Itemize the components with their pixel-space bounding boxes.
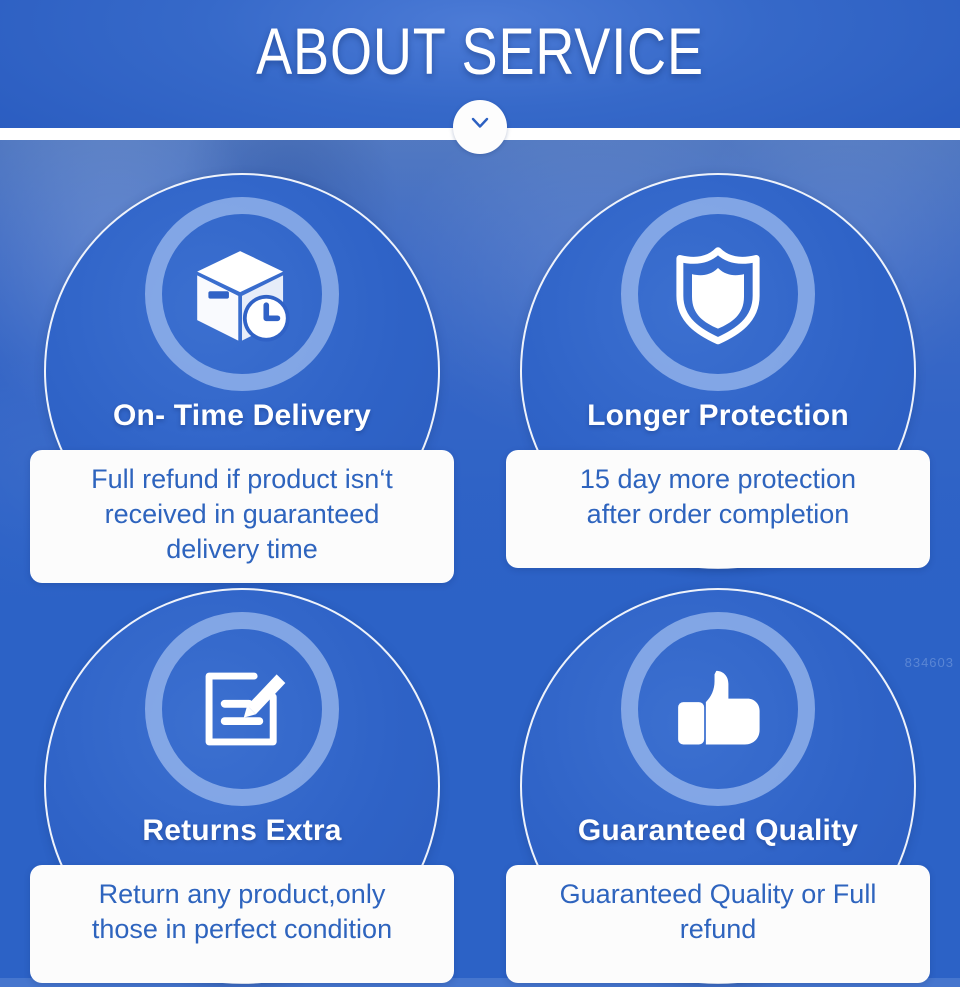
package-clock-icon bbox=[175, 227, 309, 361]
card-title: Returns Extra bbox=[22, 812, 462, 850]
card-note-box: Return any product,only those in perfect… bbox=[30, 865, 454, 983]
service-card-longer-protection[interactable]: Longer Protection 15 day more protection… bbox=[498, 165, 938, 575]
service-cards-grid: On- Time Delivery Full refund if product… bbox=[0, 140, 960, 987]
card-note-text: Return any product,only those in perfect… bbox=[40, 877, 444, 947]
card-note-box: Full refund if product isn‘t received in… bbox=[30, 450, 454, 583]
card-title: Longer Protection bbox=[498, 397, 938, 435]
shield-icon bbox=[651, 227, 785, 361]
card-note-text: 15 day more protection after order compl… bbox=[516, 462, 920, 532]
page-title: ABOUT SERVICE bbox=[86, 14, 873, 88]
card-note-box: Guaranteed Quality or Full refund bbox=[506, 865, 930, 983]
card-title: On- Time Delivery bbox=[22, 397, 462, 435]
service-card-guaranteed-quality[interactable]: Guaranteed Quality Guaranteed Quality or… bbox=[498, 580, 938, 987]
document-pencil-icon bbox=[175, 642, 309, 776]
card-note-box: 15 day more protection after order compl… bbox=[506, 450, 930, 568]
about-service-page: ABOUT SERVICE bbox=[0, 0, 960, 987]
card-note-text: Guaranteed Quality or Full refund bbox=[516, 877, 920, 947]
chevron-down-icon bbox=[470, 113, 490, 133]
service-card-on-time-delivery[interactable]: On- Time Delivery Full refund if product… bbox=[22, 165, 462, 575]
thumbs-up-icon bbox=[651, 642, 785, 776]
card-note-text: Full refund if product isn‘t received in… bbox=[40, 462, 444, 567]
card-title: Guaranteed Quality bbox=[498, 812, 938, 850]
service-card-returns-extra[interactable]: Returns Extra Return any product,only th… bbox=[22, 580, 462, 987]
